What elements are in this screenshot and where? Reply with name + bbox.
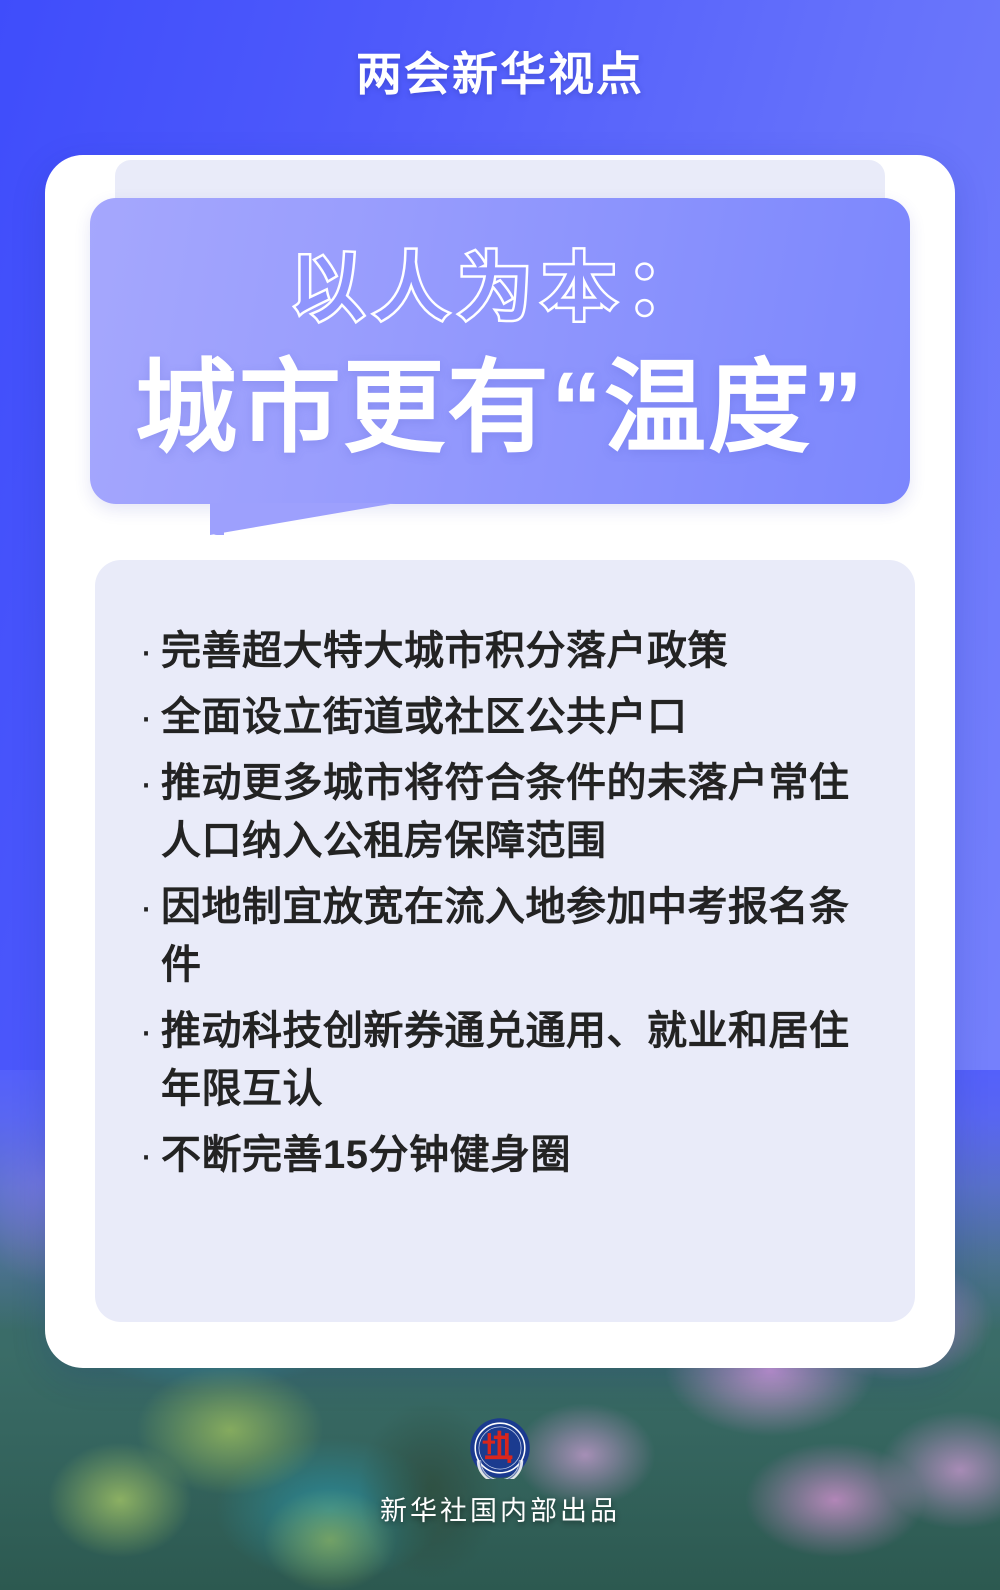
policy-list-panel: ·完善超大特大城市积分落户政策·全面设立街道或社区公共户口·推动更多城市将符合条… xyxy=(95,560,915,1322)
speech-bubble-tail-edge xyxy=(210,503,224,535)
speech-bubble-tail xyxy=(210,503,396,535)
list-item-text: 全面设立街道或社区公共户口 xyxy=(161,688,889,746)
bullet-dot-icon: · xyxy=(131,1002,161,1060)
list-item: ·不断完善15分钟健身圈 xyxy=(131,1126,889,1184)
bullet-dot-icon: · xyxy=(131,754,161,812)
list-item-text: 不断完善15分钟健身圈 xyxy=(161,1126,889,1184)
list-item-text: 完善超大特大城市积分落户政策 xyxy=(161,622,889,680)
title-line-1: 以人为本： xyxy=(90,228,910,335)
content-card: 以人为本： 城市更有“温度” ·完善超大特大城市积分落户政策·全面设立街道或社区… xyxy=(45,155,955,1368)
list-item: ·全面设立街道或社区公共户口 xyxy=(131,688,889,746)
bullet-dot-icon: · xyxy=(131,1126,161,1184)
xinhua-news-agency-logo xyxy=(469,1417,531,1479)
list-item: ·因地制宜放宽在流入地参加中考报名条件 xyxy=(131,878,889,994)
list-item: ·完善超大特大城市积分落户政策 xyxy=(131,622,889,680)
footer-caption: 新华社国内部出品 xyxy=(0,1489,1000,1528)
list-item: ·推动科技创新券通兑通用、就业和居住年限互认 xyxy=(131,1002,889,1118)
title-speech-bubble: 以人为本： 城市更有“温度” xyxy=(90,198,910,504)
list-item-text: 因地制宜放宽在流入地参加中考报名条件 xyxy=(161,878,889,994)
policy-list: ·完善超大特大城市积分落户政策·全面设立街道或社区公共户口·推动更多城市将符合条… xyxy=(131,622,889,1192)
poster-root: 两会新华视点 以人为本： 城市更有“温度” ·完善超大特大城市积分落户政策·全面… xyxy=(0,0,1000,1590)
list-item: ·推动更多城市将符合条件的未落户常住人口纳入公租房保障范围 xyxy=(131,754,889,870)
bullet-dot-icon: · xyxy=(131,622,161,680)
footer: 新华社国内部出品 xyxy=(0,1417,1000,1528)
list-item-text: 推动科技创新券通兑通用、就业和居住年限互认 xyxy=(161,1002,889,1118)
page-kicker: 两会新华视点 xyxy=(0,38,1000,104)
bullet-dot-icon: · xyxy=(131,878,161,936)
title-line-2: 城市更有“温度” xyxy=(90,326,910,473)
bullet-dot-icon: · xyxy=(131,688,161,746)
list-item-text: 推动更多城市将符合条件的未落户常住人口纳入公租房保障范围 xyxy=(161,754,889,870)
